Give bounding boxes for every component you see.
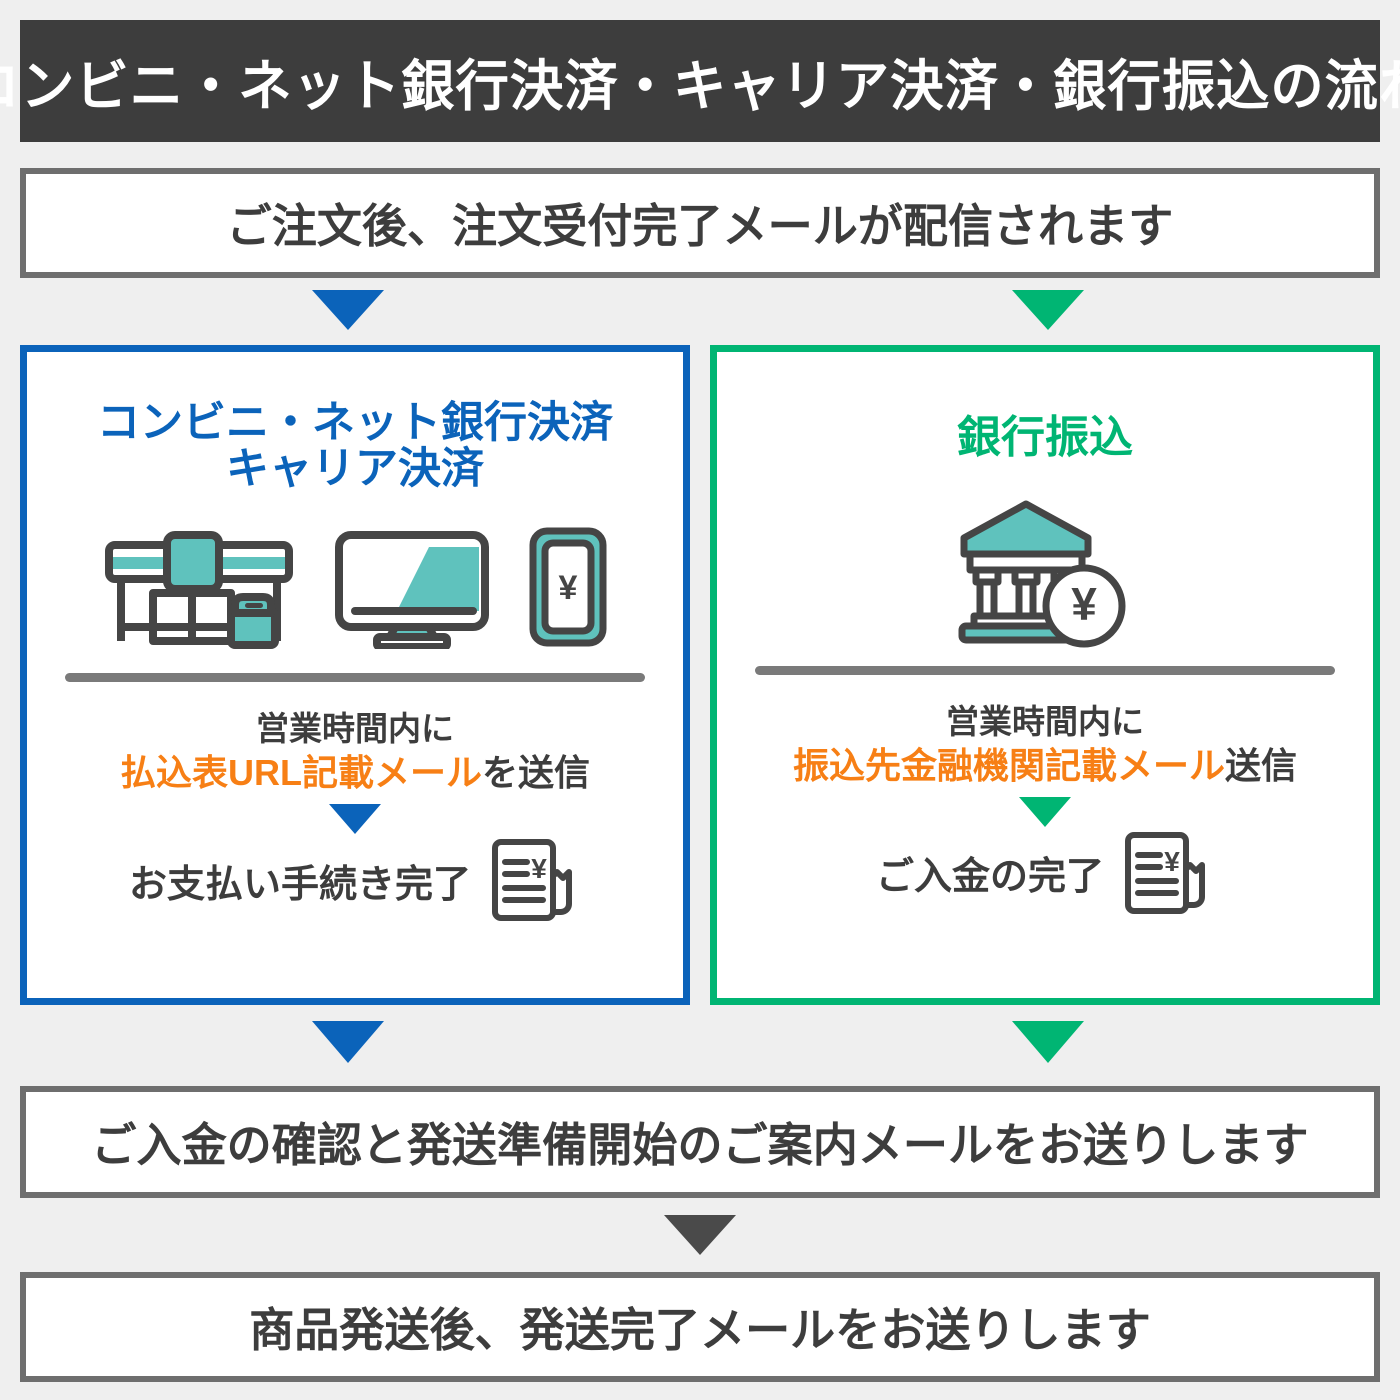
arrow-down-to-bank-icon [1012, 290, 1084, 330]
bank-notice: 営業時間内に 振込先金融機関記載メール送信 [717, 701, 1373, 789]
diagram-header: コンビニ・ネット銀行決済・キャリア決済・銀行振込の流れ [20, 20, 1380, 142]
step-order-confirmation-box: ご注文後、注文受付完了メールが配信されます [20, 168, 1380, 278]
payment-flow-diagram: コンビニ・ネット銀行決済・キャリア決済・銀行振込の流れ ご注文後、注文受付完了メ… [0, 0, 1400, 1400]
panel-convenience-title-line1: コンビニ・ネット銀行決済 [97, 399, 613, 447]
bank-notice-highlight: 振込先金融機関記載メール [793, 745, 1225, 786]
convenience-icon-row: ¥ [27, 523, 683, 649]
step-payment-confirmation-label: ご入金の確認と発送準備開始のご案内メールをお送りします [91, 1109, 1308, 1175]
panel-convenience-title: コンビニ・ネット銀行決済 キャリア決済 [27, 400, 683, 493]
arrow-down-bank-inner-icon [1019, 797, 1071, 827]
convenience-done-row: お支払い手続き完了 ¥ [27, 836, 683, 924]
convenience-notice-highlight: 払込表URL記載メール [120, 752, 482, 793]
bank-done-label: ご入金の完了 [876, 845, 1104, 900]
panel-bank-title: 銀行振込 [717, 414, 1373, 462]
convenience-store-icon [99, 527, 299, 649]
step-shipping-notification-label: 商品発送後、発送完了メールをお送りします [249, 1294, 1151, 1360]
svg-text:¥: ¥ [559, 569, 578, 607]
step-shipping-notification-box: 商品発送後、発送完了メールをお送りします [20, 1272, 1380, 1382]
arrow-down-to-convenience-icon [312, 290, 384, 330]
panel-convenience-title-line2: キャリア決済 [27, 446, 683, 492]
convenience-notice-line2: 払込表URL記載メールを送信 [27, 750, 683, 796]
receipt-yen-icon: ¥ [485, 836, 581, 924]
convenience-divider [65, 673, 645, 682]
bank-divider [755, 666, 1335, 675]
bank-notice-line2: 振込先金融機関記載メール送信 [717, 743, 1373, 789]
arrow-down-to-shipping-icon [664, 1215, 736, 1255]
bank-notice-line1: 営業時間内に [717, 701, 1373, 743]
desktop-monitor-icon [333, 527, 491, 649]
convenience-notice-line1: 営業時間内に [27, 708, 683, 750]
convenience-done-label: お支払い手続き完了 [129, 853, 471, 908]
svg-text:¥: ¥ [1071, 578, 1097, 630]
svg-text:¥: ¥ [1164, 846, 1180, 877]
panel-bank-title-line1: 銀行振込 [957, 413, 1133, 462]
convenience-notice: 営業時間内に 払込表URL記載メールを送信 [27, 708, 683, 796]
smartphone-yen-icon: ¥ [525, 525, 611, 649]
convenience-notice-suffix: を送信 [482, 752, 590, 793]
bank-notice-suffix: 送信 [1225, 745, 1297, 786]
step-order-confirmation-label: ご注文後、注文受付完了メールが配信されます [227, 190, 1174, 256]
arrow-down-from-bank-icon [1012, 1021, 1084, 1063]
panel-bank-transfer: 銀行振込 [710, 345, 1380, 1005]
bank-done-row: ご入金の完了 ¥ [717, 829, 1373, 917]
bank-building-yen-icon: ¥ [952, 498, 1138, 648]
svg-text:¥: ¥ [531, 853, 547, 884]
step-payment-confirmation-box: ご入金の確認と発送準備開始のご案内メールをお送りします [20, 1086, 1380, 1198]
panel-convenience-payment: コンビニ・ネット銀行決済 キャリア決済 [20, 345, 690, 1005]
diagram-title: コンビニ・ネット銀行決済・キャリア決済・銀行振込の流れ [0, 41, 1400, 121]
bank-icon-row: ¥ [717, 498, 1373, 648]
arrow-down-from-convenience-icon [312, 1021, 384, 1063]
receipt-yen-icon: ¥ [1118, 829, 1214, 917]
arrow-down-convenience-inner-icon [329, 804, 381, 834]
